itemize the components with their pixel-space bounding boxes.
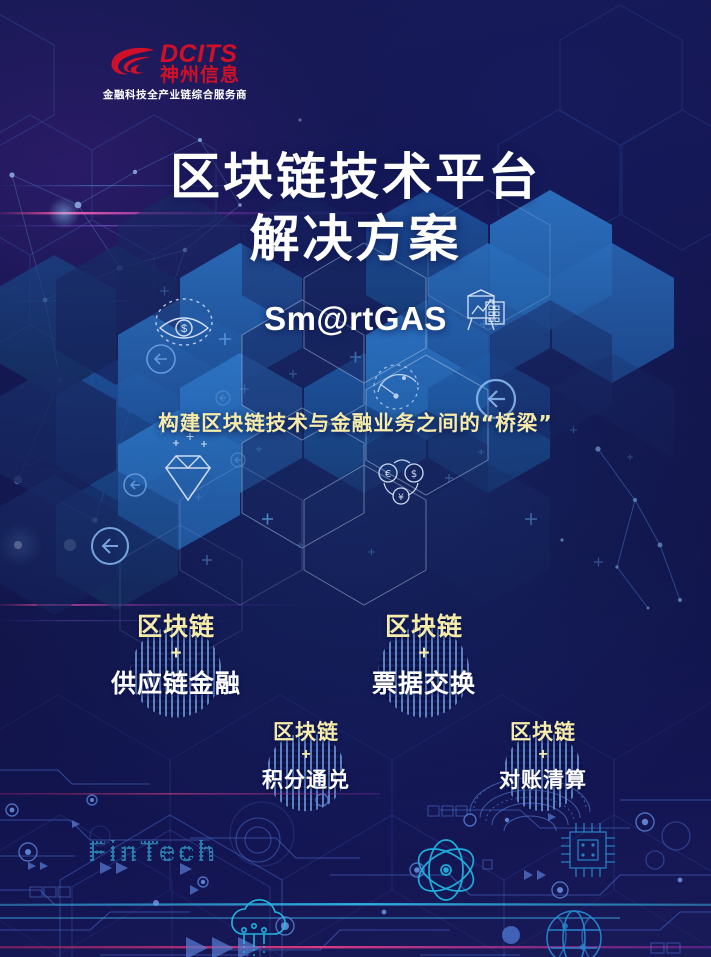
badge-plus-sign: + <box>76 644 276 663</box>
badge-bottom-label: 对账清算 <box>453 764 633 794</box>
badge-top-label: 区块链 <box>324 607 524 643</box>
badge-top-label: 区块链 <box>76 607 276 643</box>
badge-bottom-label: 供应链金融 <box>76 664 276 700</box>
badge-top-label: 区块链 <box>453 716 633 746</box>
badge-plus-sign: + <box>453 747 633 763</box>
atom-icon <box>412 840 481 900</box>
fintech-watermark: FinTech <box>88 836 218 869</box>
badge-bottom-label: 积分通兑 <box>216 764 396 794</box>
poster-canvas: $ <box>0 0 711 957</box>
badge-top-label: 区块链 <box>216 716 396 746</box>
circuit-arrows <box>28 813 556 957</box>
badge-bottom-label: 票据交换 <box>324 664 524 700</box>
cpu-chip-icon <box>561 823 615 877</box>
circuit-nodes <box>6 794 711 944</box>
magenta-divider-line <box>0 946 711 948</box>
badge-plus-sign: + <box>324 644 524 663</box>
circuit-tech-layer <box>0 0 711 957</box>
badge-plus-sign: + <box>216 747 396 763</box>
